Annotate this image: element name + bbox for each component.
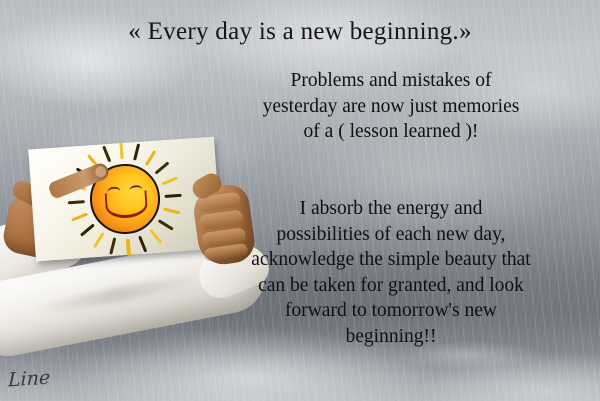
sun-ray — [126, 239, 131, 256]
sun-ray — [93, 232, 105, 248]
sun-ray — [68, 200, 85, 205]
quote-line: forward to tomorrow's new — [186, 298, 596, 324]
quote-paragraph-2: I absorb the energy andpossibilities of … — [186, 196, 596, 349]
sun-ray — [165, 193, 182, 198]
artist-signature: Line — [8, 366, 51, 391]
sun-ray — [133, 143, 140, 160]
sun-ray — [138, 235, 148, 252]
sun-ray — [158, 219, 174, 231]
quote-line: of a ( lesson learned )! — [186, 119, 596, 145]
sun-smile — [105, 190, 149, 219]
quote-line: I absorb the energy and — [186, 196, 596, 222]
sun-ray — [145, 150, 157, 166]
inspirational-quote-poster: « Every day is a new beginning.» Problem… — [0, 0, 600, 401]
sun-ray — [161, 176, 178, 186]
sun-ray — [149, 229, 163, 244]
quote-line: Problems and mistakes of — [186, 68, 596, 94]
quote-line: beginning!! — [186, 324, 596, 350]
sun-ray — [119, 142, 124, 159]
sun-ray — [155, 161, 170, 175]
sun-ray — [102, 146, 112, 163]
quote-line: yesterday are now just memories — [186, 94, 596, 120]
quote-paragraph-1: Problems and mistakes ofyesterday are no… — [186, 68, 596, 145]
quote-line: acknowledge the simple beauty that — [186, 247, 596, 273]
sun-ray — [163, 207, 180, 214]
sun-ray — [110, 237, 117, 254]
quote-line: can be taken for granted, and look — [186, 273, 596, 299]
sun-drawing — [47, 121, 203, 277]
quote-line: possibilities of each new day, — [186, 222, 596, 248]
quote-title: « Every day is a new beginning.» — [0, 18, 600, 46]
sun-ray — [80, 223, 95, 237]
sun-ray — [72, 212, 89, 222]
